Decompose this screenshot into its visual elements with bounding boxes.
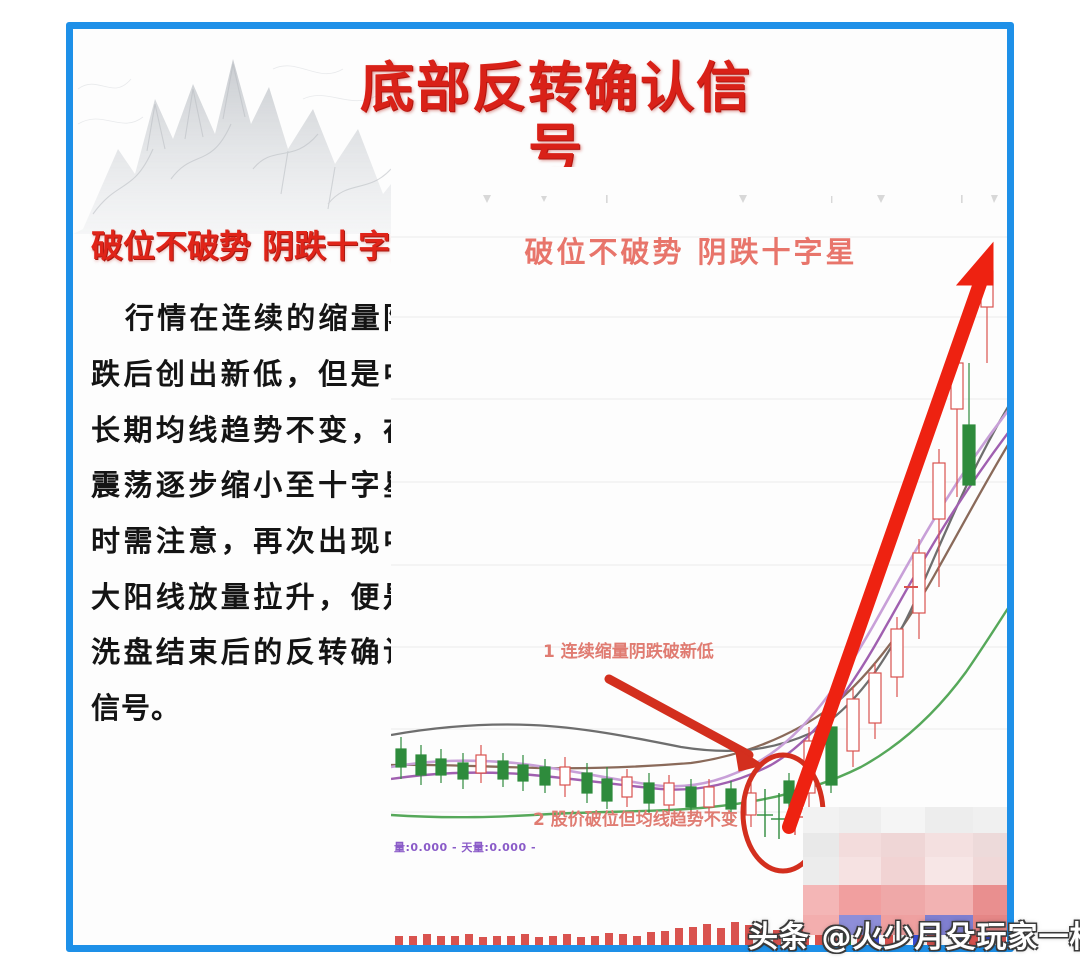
slide-frame: 底部反转确认信号 破位不破势 阴跌十字星 行情在连续的缩量阴跌后创出新低，但是中… bbox=[66, 22, 1014, 952]
chart-annotation-1: 1 连续缩量阴跌破新低 bbox=[543, 637, 714, 662]
slide-inner: 底部反转确认信号 破位不破势 阴跌十字星 行情在连续的缩量阴跌后创出新低，但是中… bbox=[73, 29, 1007, 945]
slide-title: 底部反转确认信号 bbox=[341, 57, 771, 181]
watermark-text: 头条 @火少月殳玩家一枚 bbox=[748, 912, 1080, 956]
left-text-column: 破位不破势 阴跌十字星 行情在连续的缩量阴跌后创出新低，但是中长期均线趋势不变，… bbox=[91, 227, 413, 737]
screenshot-root: 底部反转确认信号 破位不破势 阴跌十字星 行情在连续的缩量阴跌后创出新低，但是中… bbox=[0, 0, 1080, 977]
chart-annotation-2: 2 股价破位但均线趋势不变 bbox=[533, 805, 738, 830]
left-subtitle: 破位不破势 阴跌十字星 bbox=[91, 227, 413, 265]
chart-caption: 破位不破势 阴跌十字星 bbox=[511, 229, 871, 271]
stock-chart-panel: 破位不破势 阴跌十字星 1 连续缩量阴跌破新低 2 股价破位但均线趋势不变 3 … bbox=[391, 167, 1007, 945]
left-body-text: 行情在连续的缩量阴跌后创出新低，但是中长期均线趋势不变，在震荡逐步缩小至十字星时… bbox=[91, 291, 413, 736]
